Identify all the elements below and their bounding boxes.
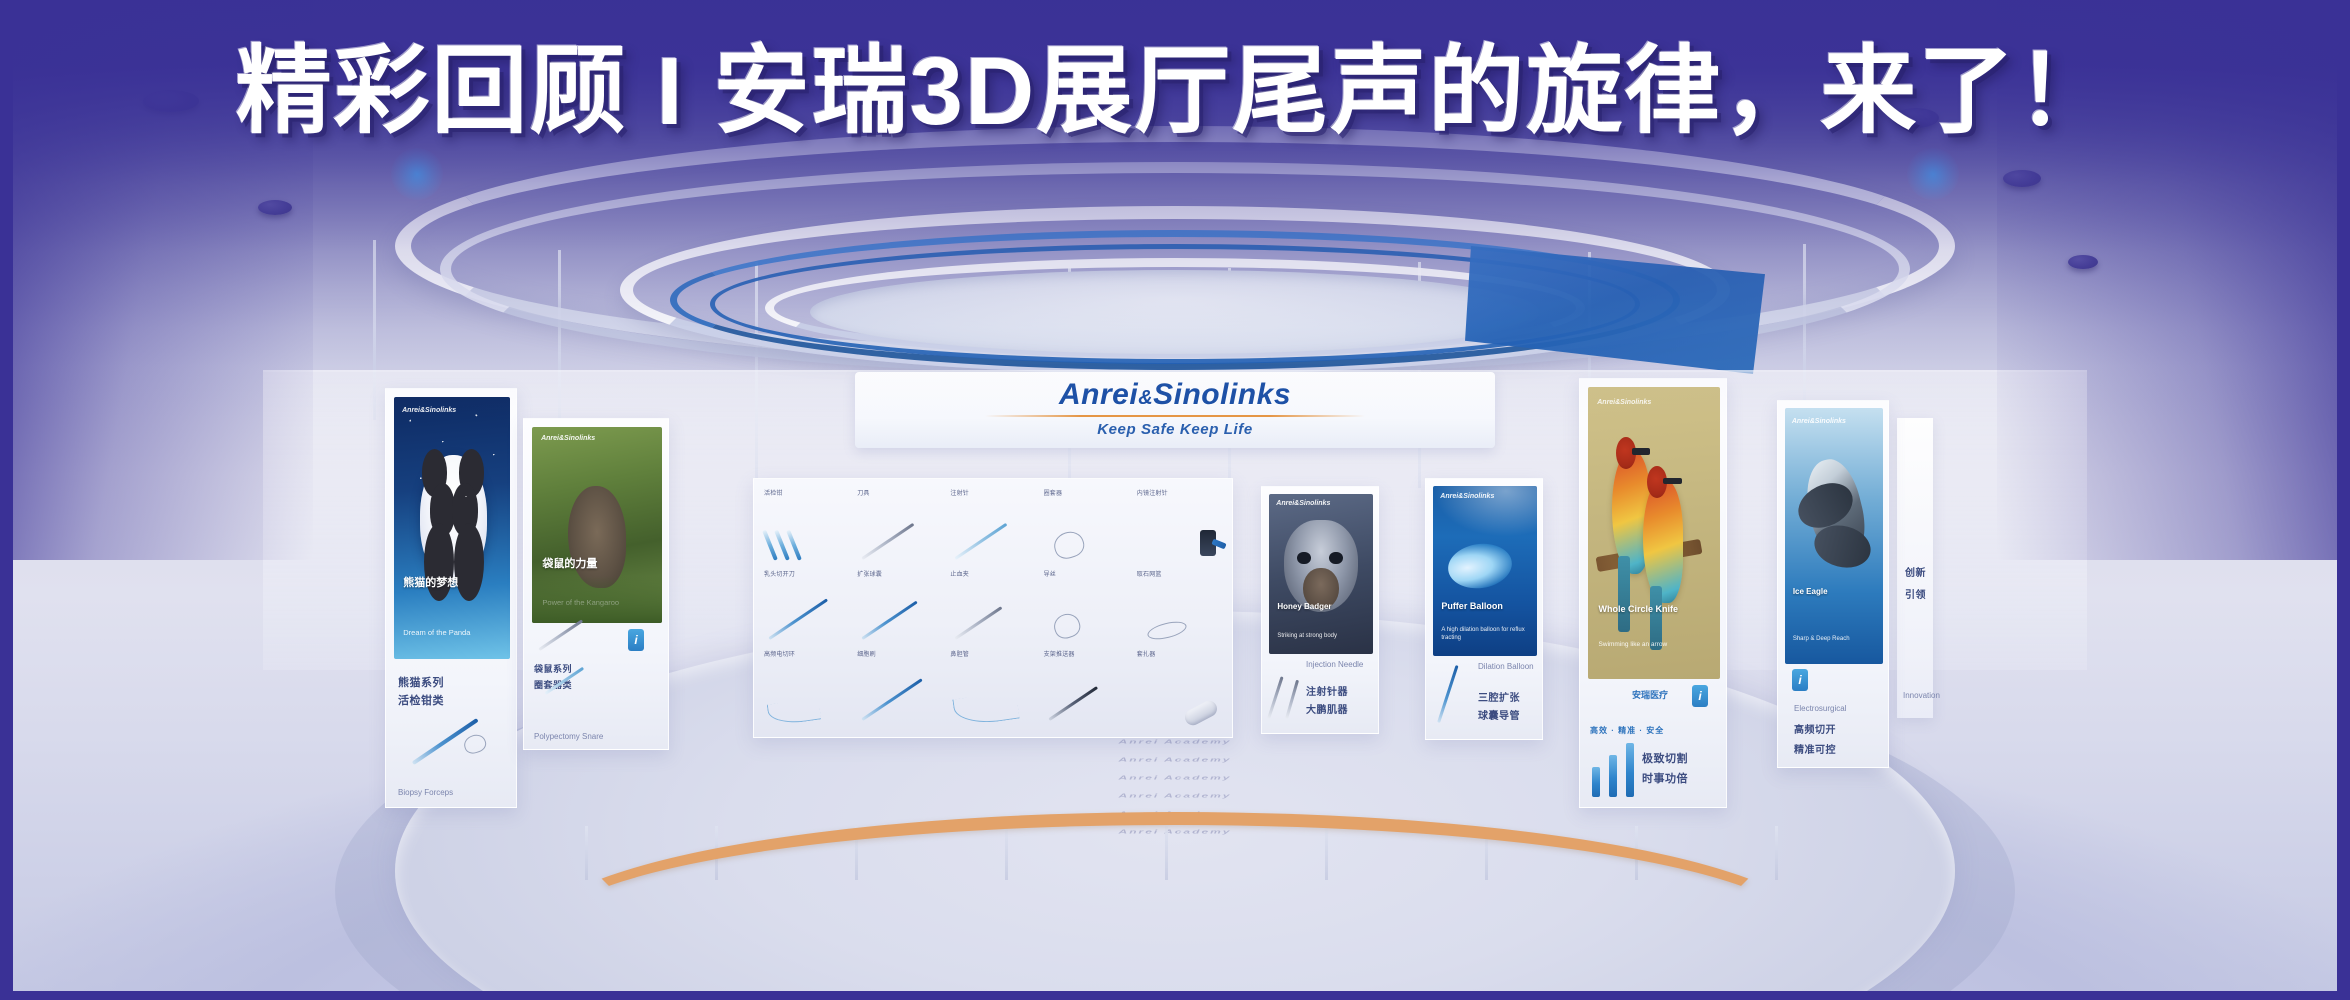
poster-logo: Anrei&Sinolinks [541, 435, 595, 442]
poster-subtitle: Dream of the Panda [403, 628, 500, 638]
info-badge-icon: i [628, 629, 644, 651]
poster-title: Honey Badger [1277, 602, 1364, 612]
poster-panda: Anrei&Sinolinks 熊猫的梦想 Dream of the Panda [394, 397, 510, 659]
product-display-board[interactable]: 活检钳 刀具 注射针 圈套器 内镜注射针 乳头切开刀 扩张球囊 止血夹 导丝 取… [753, 478, 1233, 738]
poster-badger: Anrei&Sinolinks Honey Badger Striking at… [1269, 494, 1373, 654]
poster-subtitle: Swimming like an arrow [1599, 641, 1710, 649]
poster-caption-small: Injection Needle [1306, 659, 1363, 671]
poster-caption-line2: 精准可控 [1794, 743, 1836, 758]
product-cell-label: 鼻胆管 [950, 649, 969, 658]
product-loop-icon [1050, 528, 1087, 562]
product-cell[interactable]: 内镜注射针 [1133, 487, 1226, 568]
poster-caption-line1: 袋鼠系列 [534, 663, 572, 677]
poster-caption-small: Electrosurgical [1794, 703, 1846, 715]
ceiling-lamp-3 [2003, 170, 2041, 187]
product-device-icon [1267, 676, 1283, 719]
product-ligator-icon [1182, 698, 1220, 728]
product-device-icon [862, 522, 915, 559]
product-cell-label: 内镜注射针 [1137, 488, 1168, 497]
brand-tagline: Keep Safe Keep Life [855, 421, 1495, 438]
panda-ear-icon [422, 449, 448, 496]
side-panel-caption-small: Innovation [1903, 690, 1940, 702]
product-cell[interactable]: 刀具 [853, 487, 946, 568]
poster-logo: Anrei&Sinolinks [1276, 500, 1330, 507]
poster-subtitle: Sharp & Deep Reach [1793, 636, 1875, 644]
product-cell[interactable]: 扩张球囊 [853, 568, 946, 649]
poster-caption-small: Polypectomy Snare [534, 731, 603, 743]
ceiling-ring-core [810, 270, 1540, 354]
product-device-icon [862, 601, 918, 640]
poster-caption-line2: 球囊导管 [1478, 709, 1520, 724]
product-loop-icon [462, 732, 488, 756]
poster-caption-small: Biopsy Forceps [398, 787, 453, 799]
product-cell[interactable]: 活检钳 [760, 487, 853, 568]
product-cell-label: 细胞刷 [857, 649, 876, 658]
frame-border-left [0, 0, 13, 1000]
product-basket-icon [1146, 619, 1188, 643]
panda-ear-icon [459, 449, 485, 496]
poster-title: 熊猫的梦想 [403, 577, 500, 591]
product-device-icon [768, 599, 828, 641]
bird-tail-icon [1618, 556, 1630, 632]
panda-body-icon [420, 455, 487, 581]
poster-panel-kangaroo[interactable]: Anrei&Sinolinks 袋鼠的力量 Power of the Kanga… [523, 418, 669, 750]
product-cell[interactable]: 鼻胆管 [946, 648, 1039, 729]
poster-subtitle: A high dilation balloon for reflux tract… [1441, 627, 1528, 643]
poster-bee-eaters: Anrei&Sinolinks Whole Circle Knife Swimm… [1588, 387, 1720, 679]
poster-caption-line1: 熊猫系列 [398, 675, 444, 692]
product-cell-label: 扩张球囊 [857, 569, 882, 578]
product-cell[interactable]: 高频电切环 [760, 648, 853, 729]
poster-kangaroo: Anrei&Sinolinks 袋鼠的力量 Power of the Kanga… [532, 427, 662, 623]
side-panel-caption-line1: 创新 [1905, 566, 1926, 581]
poster-panel-panda[interactable]: Anrei&Sinolinks 熊猫的梦想 Dream of the Panda… [385, 388, 517, 808]
product-tube-icon [953, 691, 1020, 728]
poster-caption-line2: 活检钳类 [398, 693, 444, 710]
poster-caption-line1: 高频切开 [1794, 723, 1836, 738]
poster-subtitle: Striking at strong body [1277, 633, 1364, 641]
poster-logo: Anrei&Sinolinks [1792, 418, 1846, 425]
product-loop-icon [1051, 611, 1083, 642]
product-cell[interactable]: 套扎器 [1133, 648, 1226, 729]
page-title: 精彩回顾 I 安瑞3D展厅尾声的旋律，来了！ [0, 42, 2350, 143]
bird-tail-icon [1650, 586, 1662, 650]
panda-arm-icon [454, 523, 484, 602]
product-cell-label: 取石网篮 [1137, 569, 1162, 578]
banner-image: Anrei&Sinolinks Keep Safe Keep Life Anre… [0, 0, 2350, 1000]
product-plug-icon [1200, 530, 1216, 556]
poster-panel-balloon[interactable]: Anrei&Sinolinks Puffer Balloon A high di… [1425, 478, 1543, 740]
ceiling-lamp-4 [2068, 255, 2098, 269]
poster-title: Puffer Balloon [1441, 601, 1528, 612]
poster-eagle: Anrei&Sinolinks Ice Eagle Sharp & Deep R… [1785, 408, 1883, 664]
panda-eye-icon [430, 483, 456, 535]
poster-caption-line1: 三腔扩张 [1478, 691, 1520, 706]
product-cell[interactable]: 乳头切开刀 [760, 568, 853, 649]
brand-ampersand: & [1138, 387, 1153, 409]
badger-eye-icon [1329, 552, 1343, 565]
poster-caption-line2: 大鹏肌器 [1306, 703, 1348, 718]
product-cell[interactable]: 支架推送器 [1040, 648, 1133, 729]
poster-logo: Anrei&Sinolinks [402, 407, 456, 414]
poster-panel-bee-eaters[interactable]: Anrei&Sinolinks Whole Circle Knife Swimm… [1579, 378, 1727, 808]
ceiling-glow-right-icon [1907, 148, 1959, 200]
bird-beak-icon [1663, 478, 1681, 484]
brand-divider [985, 415, 1365, 417]
poster-panel-eagle[interactable]: Anrei&Sinolinks Ice Eagle Sharp & Deep R… [1777, 400, 1889, 768]
info-badge-icon: i [1692, 685, 1708, 707]
product-cell[interactable]: 取石网篮 [1133, 568, 1226, 649]
product-device-icon [955, 607, 1003, 641]
product-cell-label: 止血夹 [950, 569, 969, 578]
ceiling-lamp-5 [258, 200, 292, 215]
product-cell-label: 注射针 [950, 488, 969, 497]
floor-watermark-line: Anrei Academy [1119, 739, 1232, 745]
product-cell[interactable]: 细胞刷 [853, 648, 946, 729]
poster-logo: Anrei&Sinolinks [1440, 493, 1494, 500]
poster-title: 袋鼠的力量 [542, 558, 651, 572]
panda-arm-icon [424, 523, 454, 602]
panda-eye-icon [452, 483, 478, 535]
brand-name-part2: Sinolinks [1153, 378, 1291, 411]
product-cell-label: 套扎器 [1137, 649, 1156, 658]
product-cell-label: 刀具 [857, 488, 869, 497]
poster-subtitle: Power of the Kangaroo [542, 598, 651, 608]
poster-panel-badger[interactable]: Anrei&Sinolinks Honey Badger Striking at… [1261, 486, 1379, 734]
poster-caption-line1: 注射针器 [1306, 685, 1348, 700]
poster-balloon: Anrei&Sinolinks Puffer Balloon A high di… [1433, 486, 1537, 656]
poster-title: Whole Circle Knife [1599, 604, 1710, 615]
brand-banner: Anrei&Sinolinks Keep Safe Keep Life [855, 372, 1495, 448]
exhibition-hall-scene: Anrei&Sinolinks Keep Safe Keep Life Anre… [13, 0, 2337, 991]
frame-border-bottom [0, 991, 2350, 1000]
product-device-icon [1437, 665, 1458, 723]
product-cell[interactable]: 圈套器 [1040, 487, 1133, 568]
brand-name: Anrei&Sinolinks [855, 380, 1495, 410]
ceiling-glow-left-icon [391, 148, 443, 200]
product-device-icon [1285, 680, 1299, 719]
brand-cn-label: 安瑞医疗 [1632, 689, 1668, 703]
product-cell-label: 支架推送器 [1044, 649, 1075, 658]
metric-label: 高效 · 精准 · 安全 [1590, 725, 1664, 736]
info-badge-icon: i [1792, 669, 1808, 691]
product-trio-icon [772, 526, 828, 560]
product-device-icon [538, 619, 583, 651]
product-cell-label: 活检钳 [764, 488, 783, 497]
poster-caption-small: Dilation Balloon [1478, 661, 1534, 673]
poster-title: Ice Eagle [1793, 587, 1875, 597]
product-cell[interactable]: 注射针 [946, 487, 1039, 568]
badger-eye-icon [1297, 552, 1311, 565]
product-cell-label: 圈套器 [1044, 488, 1063, 497]
poster-logo: Anrei&Sinolinks [1597, 399, 1651, 406]
bird-beak-icon [1632, 448, 1650, 454]
brand-name-part1: Anrei [1059, 378, 1138, 411]
product-device-icon [862, 678, 923, 721]
bird-icon [1643, 480, 1683, 603]
product-cell-label: 乳头切开刀 [764, 569, 795, 578]
product-cell-label: 高频电切环 [764, 649, 795, 658]
product-device-icon [955, 522, 1008, 559]
side-panel-caption-line2: 引领 [1905, 588, 1926, 603]
product-cell-label: 导丝 [1044, 569, 1056, 578]
product-wire-icon [767, 697, 822, 726]
product-cell[interactable]: 止血夹 [946, 568, 1039, 649]
product-device-icon [1048, 686, 1098, 721]
product-cell[interactable]: 导丝 [1040, 568, 1133, 649]
frame-border-right [2337, 0, 2350, 1000]
